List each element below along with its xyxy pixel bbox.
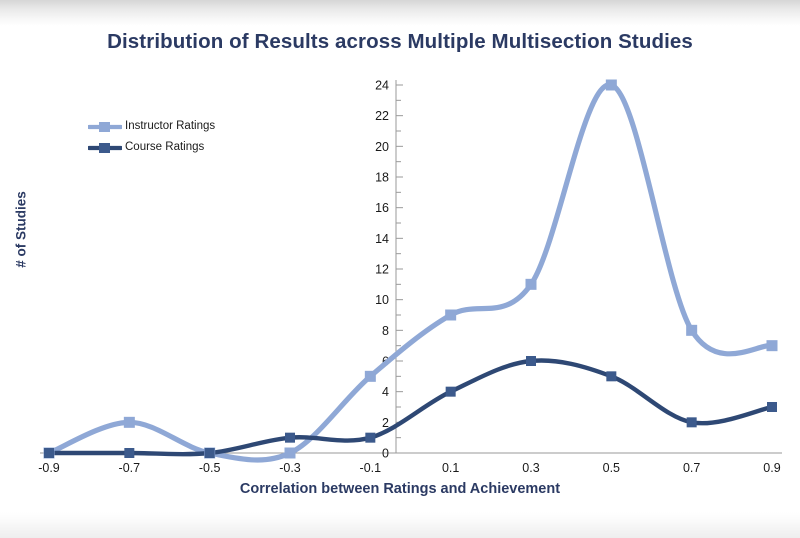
y-tick-label: 8 [382, 324, 389, 338]
data-point-marker [285, 448, 296, 459]
x-tick-label: 0.7 [683, 461, 700, 475]
y-axis-ticks [396, 85, 403, 453]
x-tick-label: -0.9 [38, 461, 60, 475]
data-point-marker [124, 448, 134, 458]
y-axis-tick-labels: 024681012141618202224 [375, 79, 389, 461]
x-tick-label: -0.1 [360, 461, 382, 475]
x-tick-label: -0.7 [119, 461, 141, 475]
x-tick-label: -0.3 [279, 461, 301, 475]
data-point-marker [686, 325, 697, 336]
x-tick-label: 0.3 [522, 461, 539, 475]
data-point-marker [687, 417, 697, 427]
series-line-course-ratings [49, 361, 772, 455]
data-point-marker [285, 433, 295, 443]
y-tick-label: 18 [375, 171, 389, 185]
y-tick-label: 14 [375, 232, 389, 246]
y-tick-label: 2 [382, 416, 389, 430]
y-tick-label: 10 [375, 293, 389, 307]
data-point-marker [124, 417, 135, 428]
data-point-marker [606, 80, 617, 91]
data-point-marker [606, 371, 616, 381]
y-tick-label: 4 [382, 385, 389, 399]
x-tick-label: 0.5 [603, 461, 620, 475]
chart-slide: Distribution of Results across Multiple … [0, 0, 800, 538]
data-point-marker [526, 279, 537, 290]
chart-series-lines [49, 85, 772, 460]
y-tick-label: 16 [375, 201, 389, 215]
x-axis-tick-labels: -0.9-0.7-0.5-0.3-0.10.10.30.50.70.9 [38, 461, 781, 475]
chart-plot-area: 024681012141618202224 -0.9-0.7-0.5-0.3-0… [0, 0, 800, 538]
data-point-marker [365, 433, 375, 443]
x-tick-label: -0.5 [199, 461, 221, 475]
series-line-instructor-ratings [49, 85, 772, 460]
y-tick-label: 12 [375, 263, 389, 277]
y-tick-label: 0 [382, 447, 389, 461]
data-point-marker [205, 448, 215, 458]
data-point-marker [445, 310, 456, 321]
data-point-marker [446, 387, 456, 397]
y-tick-label: 24 [375, 79, 389, 93]
x-tick-label: 0.9 [763, 461, 780, 475]
data-point-marker [44, 448, 54, 458]
x-tick-label: 0.1 [442, 461, 459, 475]
y-tick-label: 20 [375, 140, 389, 154]
data-point-marker [767, 340, 778, 351]
y-tick-label: 22 [375, 109, 389, 123]
data-point-marker [767, 402, 777, 412]
data-point-marker [526, 356, 536, 366]
data-point-marker [365, 371, 376, 382]
